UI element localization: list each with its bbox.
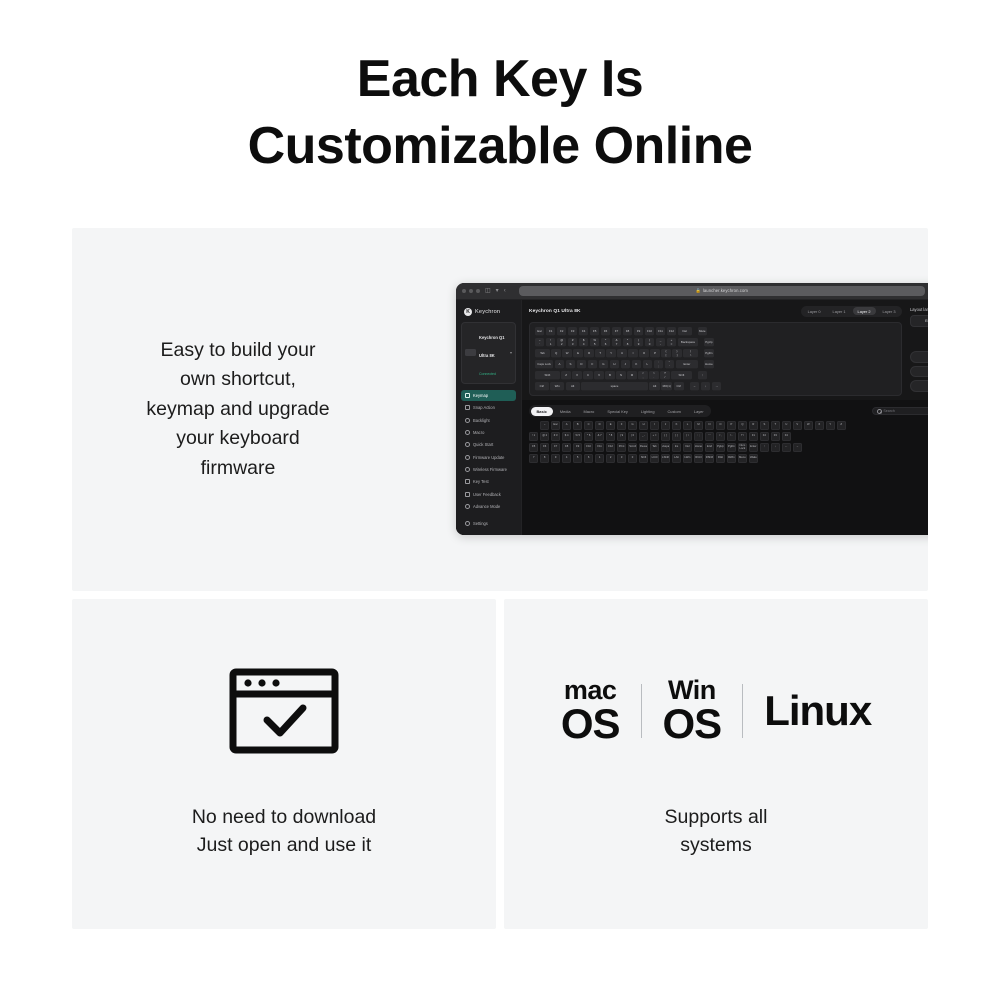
key-picker-key[interactable]: F1 xyxy=(749,432,758,441)
search-placeholder: Search xyxy=(883,409,894,413)
tab-media[interactable]: Media xyxy=(554,407,577,416)
lock-icon: 🔒 xyxy=(695,288,700,294)
key-picker-key[interactable]: S xyxy=(760,421,769,430)
keyboard-key-spacer xyxy=(693,371,696,380)
key-picker-key[interactable]: RCtrl xyxy=(694,454,703,463)
key-picker-key[interactable]: Print xyxy=(617,443,626,452)
quick-start-icon xyxy=(465,442,470,447)
keyboard-key[interactable]: F5 xyxy=(590,327,599,336)
key-picker-toolbar: Basic Media Macro Special Key Lighting C… xyxy=(529,405,928,417)
key-picker-key[interactable]: LShift xyxy=(661,454,670,463)
tab-special-key[interactable]: Special Key xyxy=(601,407,634,416)
close-icon[interactable] xyxy=(462,289,466,293)
key-picker-key[interactable]: ~ xyxy=(540,421,549,430)
sidebar-item-label: Quick Start xyxy=(473,442,493,447)
keyboard-key[interactable]: Z xyxy=(561,371,570,380)
chevron-left-icon[interactable]: ‹ xyxy=(504,288,506,294)
keyboard-key[interactable]: Enter xyxy=(676,360,699,369)
keyboard-key[interactable]: V xyxy=(594,371,603,380)
key-picker-key[interactable]: 4 xyxy=(562,454,571,463)
keyboard-key-legend: 7 xyxy=(616,343,618,346)
sidebar-item-key-test[interactable]: Key Test xyxy=(461,476,516,487)
keyboard-key[interactable]: J xyxy=(621,360,630,369)
keyboard-key-legend: 0 xyxy=(649,343,651,346)
key-picker-key[interactable]: Y xyxy=(826,421,835,430)
key-picker-key[interactable]: _ - xyxy=(639,432,648,441)
sidebar-item-user-feedback[interactable]: User Feedback xyxy=(461,489,516,500)
key-picker-empty xyxy=(760,454,769,463)
keyboard-key[interactable]: !1 xyxy=(546,338,555,347)
device-status: Connected xyxy=(479,372,496,376)
keyboard-key[interactable]: ← xyxy=(690,382,699,391)
key-picker-key[interactable]: B xyxy=(573,421,582,430)
sidebar-item-label: Firmware Update xyxy=(473,455,504,460)
window-controls[interactable] xyxy=(462,289,480,293)
address-bar-url: launcher.keychron.com xyxy=(703,288,748,293)
key-picker-key[interactable]: } ] xyxy=(672,432,681,441)
device-name: Keychron Q1 Ultra 8K xyxy=(479,335,504,358)
key-picker-key[interactable]: F11 xyxy=(595,443,604,452)
key-picker-key[interactable]: 5 xyxy=(573,454,582,463)
tab-basic[interactable]: Basic xyxy=(531,407,553,416)
key-picker-key[interactable]: F xyxy=(617,421,626,430)
key-picker-key[interactable]: H xyxy=(639,421,648,430)
key-picker-row: ! 1@ 2# 3$ 4% 5^ 6& 7* 8( 9) 0_ -+ ={ [}… xyxy=(529,432,928,441)
key-picker-key[interactable]: T xyxy=(771,421,780,430)
reset-button[interactable]: ↻ Reset xyxy=(910,351,928,363)
keymap-icon xyxy=(465,393,470,398)
keyboard-key[interactable]: PgUp xyxy=(704,338,713,347)
keyboard-key[interactable]: W xyxy=(562,349,571,358)
os-logo-winos: Win OS xyxy=(663,678,722,744)
key-picker-key[interactable]: Enter xyxy=(749,443,758,452)
key-picker-key[interactable]: 8 xyxy=(540,454,549,463)
key-picker-key[interactable]: Tab xyxy=(650,443,659,452)
key-picker-key[interactable]: & 7 xyxy=(595,432,604,441)
key-picker-key[interactable]: 3 xyxy=(617,454,626,463)
keyboard-key[interactable]: ↓ xyxy=(701,382,710,391)
sidebar-item-label: Keymap xyxy=(473,393,488,398)
tab-lighting[interactable]: Lighting xyxy=(635,407,661,416)
browser-window-check-icon xyxy=(229,668,339,754)
feature-text-line-2: own shortcut, xyxy=(104,365,372,395)
key-picker-key[interactable]: U xyxy=(782,421,791,430)
key-picker-key[interactable]: F8 xyxy=(562,443,571,452)
keyboard-key[interactable]: S xyxy=(566,360,575,369)
key-picker-key[interactable]: L xyxy=(683,421,692,430)
keyboard-key-legend: 2 xyxy=(561,343,563,346)
key-picker-key[interactable]: PgUp xyxy=(716,443,725,452)
key-picker-key[interactable]: : ; xyxy=(694,432,703,441)
keyboard-key-spacer xyxy=(700,338,703,347)
search-input[interactable]: Search xyxy=(872,407,928,415)
key-picker-key[interactable]: F6 xyxy=(540,443,549,452)
key-picker-key[interactable]: { [ xyxy=(661,432,670,441)
keyboard-key[interactable]: :; xyxy=(654,360,663,369)
keyboard-key[interactable]: F1 xyxy=(546,327,555,336)
key-picker-tools: Search 100% xyxy=(872,407,928,415)
key-picker-key[interactable]: # 3 xyxy=(551,432,560,441)
backlight-icon xyxy=(465,418,470,423)
card-no-download-caption: No need to download Just open and use it xyxy=(192,803,376,860)
sidebar-item-label: Snap Action xyxy=(473,405,495,410)
keyboard-key[interactable]: T xyxy=(595,349,604,358)
key-picker-key[interactable]: A xyxy=(562,421,571,430)
keymap-title: Keychron Q1 Ultra 8K xyxy=(529,309,581,314)
address-bar[interactable]: 🔒 launcher.keychron.com xyxy=(519,286,925,296)
search-icon xyxy=(877,409,881,413)
keymap-section: Keychron Q1 Ultra 8K Layer 0 Layer 1 Lay… xyxy=(522,300,928,401)
keyboard-key[interactable]: D xyxy=(577,360,586,369)
keyboard-key[interactable]: ~` xyxy=(535,338,544,347)
key-picker-key[interactable]: " ' xyxy=(705,432,714,441)
keyboard-key[interactable]: Caps Lock xyxy=(535,360,553,369)
os-logos-zone: mac OS Win OS Linux xyxy=(561,661,871,761)
sidebar-item-label: Advance Mode xyxy=(473,504,500,509)
keyboard-key[interactable]: {[ xyxy=(661,349,670,358)
keyboard-key[interactable]: F10 xyxy=(645,327,654,336)
keyboard-key-spacer xyxy=(700,360,703,369)
key-picker-key[interactable]: % 5 xyxy=(573,432,582,441)
key-picker-key[interactable]: E xyxy=(606,421,615,430)
key-picker-key[interactable]: W xyxy=(804,421,813,430)
sidebar-item-label: User Feedback xyxy=(473,492,501,497)
key-picker-key[interactable]: F12 xyxy=(606,443,615,452)
feature-text-line-1: Easy to build your xyxy=(104,336,372,366)
key-picker-key[interactable]: < , xyxy=(716,432,725,441)
keyboard-key-legend: . xyxy=(654,376,655,379)
keyboard-key[interactable]: }] xyxy=(672,349,681,358)
app-sidebar: K Keychron Keychron Q1 Ultra 8K Connecte… xyxy=(456,300,522,535)
key-picker-key[interactable]: P xyxy=(727,421,736,430)
keyboard-key-legend: ' xyxy=(669,365,670,368)
key-picker-key[interactable]: Pause xyxy=(639,443,648,452)
key-picker-key[interactable]: Home xyxy=(694,443,703,452)
keyboard-key[interactable]: Ctrl xyxy=(535,382,549,391)
keyboard-key-legend: 6 xyxy=(605,343,607,346)
key-picker-key[interactable]: F9 xyxy=(573,443,582,452)
launcher-app: K Keychron Keychron Q1 Ultra 8K Connecte… xyxy=(456,300,928,535)
key-picker-key[interactable]: 6 xyxy=(584,454,593,463)
gear-icon xyxy=(465,521,470,526)
key-picker-empty xyxy=(782,454,791,463)
sidebar-item-backlight[interactable]: Backlight xyxy=(461,414,516,425)
key-picker-key[interactable]: ↑ xyxy=(760,443,769,452)
keyboard-key-spacer xyxy=(693,327,696,336)
sidebar-item-wireless-firmware[interactable]: Wireless Firmware xyxy=(461,464,516,475)
chevron-down-icon[interactable]: ▾ xyxy=(496,288,499,294)
keyboard-key[interactable]: Tab xyxy=(535,349,550,358)
keyboard-key[interactable]: Shift xyxy=(535,371,560,380)
key-picker-key[interactable]: Del xyxy=(683,443,692,452)
key-test-icon xyxy=(465,479,470,484)
keyboard-key[interactable]: Esc xyxy=(535,327,544,336)
key-picker-key[interactable]: LCtrl xyxy=(650,454,659,463)
feature-card-text: Easy to build your own shortcut, keymap … xyxy=(72,336,372,484)
chevron-down-icon[interactable]: ▾ xyxy=(510,350,512,355)
import-button[interactable]: ⇧ Import xyxy=(910,380,928,392)
key-picker-key[interactable]: RShift xyxy=(705,454,714,463)
layer-tab-3[interactable]: Layer 3 xyxy=(878,307,901,315)
key-picker-key[interactable]: ( 9 xyxy=(617,432,626,441)
keyboard-key[interactable]: Alt xyxy=(566,382,580,391)
browser-window: ◫ ▾ ‹ 🔒 launcher.keychron.com ⇧ + ▣ xyxy=(456,283,928,535)
key-picker-row: F5F6F7F8F9F10F11F12PrintScrollPauseTabBa… xyxy=(529,443,928,452)
page-title: Each Key Is Customizable Online xyxy=(0,0,1000,179)
brand-logo: K Keychron xyxy=(461,307,516,322)
sidebar-item-label: Wireless Firmware xyxy=(473,467,507,472)
key-picker-key[interactable]: ↓ xyxy=(771,443,780,452)
keyboard-key[interactable]: K xyxy=(632,360,641,369)
keyboard-key[interactable]: _- xyxy=(656,338,665,347)
key-picker-key[interactable]: LWin xyxy=(683,454,692,463)
key-picker-key[interactable]: Ins xyxy=(672,443,681,452)
keyboard-key[interactable]: B xyxy=(605,371,614,380)
sidebar-item-settings[interactable]: Settings xyxy=(461,518,516,529)
layout-language-label: Layout language xyxy=(910,307,928,312)
key-picker-key[interactable]: F5 xyxy=(529,443,538,452)
keyboard-key[interactable]: Del xyxy=(678,327,692,336)
layer-tab-0[interactable]: Layer 0 xyxy=(803,307,826,315)
key-picker-key[interactable]: V xyxy=(793,421,802,430)
key-picker-key[interactable]: Shift xyxy=(639,454,648,463)
key-picker-key[interactable]: R xyxy=(749,421,758,430)
keyboard-key[interactable]: O xyxy=(639,349,648,358)
key-picker-key[interactable]: ^ 6 xyxy=(584,432,593,441)
key-picker-key[interactable]: 0 xyxy=(628,454,637,463)
sidebar-item-macro[interactable]: Macro xyxy=(461,427,516,438)
key-picker-key[interactable]: + = xyxy=(650,432,659,441)
sidebar-item-advance-mode[interactable]: Advance Mode xyxy=(461,501,516,512)
minimize-icon[interactable] xyxy=(469,289,473,293)
key-picker-key[interactable]: X xyxy=(815,421,824,430)
cards-container: Easy to build your own shortcut, keymap … xyxy=(0,228,1000,929)
keyboard-key[interactable]: F xyxy=(588,360,597,369)
keyboard-key[interactable]: Backspace xyxy=(678,338,698,347)
key-picker-key[interactable]: ← xyxy=(782,443,791,452)
caption-line-2: systems xyxy=(665,831,768,859)
keymap-header: Keychron Q1 Ultra 8K Layer 0 Layer 1 Lay… xyxy=(529,306,902,317)
tab-macro[interactable]: Macro xyxy=(578,407,601,416)
keyboard-key[interactable]: >. xyxy=(649,371,658,380)
keyboard-layout[interactable]: EscF1F2F3F4F5F6F7F8F9F10F11F12DelMute~`!… xyxy=(529,322,902,396)
key-picker-key[interactable]: D xyxy=(595,421,604,430)
key-picker-key[interactable]: J xyxy=(661,421,670,430)
key-picker-key[interactable]: Z xyxy=(837,421,846,430)
firmware-update-icon xyxy=(465,455,470,460)
keyboard-key[interactable]: Mute xyxy=(698,327,707,336)
caption-line-1: No need to download xyxy=(192,803,376,831)
key-picker-key[interactable]: Wake xyxy=(749,454,758,463)
key-picker-key[interactable]: Esc xyxy=(551,421,560,430)
key-picker-key[interactable]: ? / xyxy=(738,432,747,441)
tab-custom[interactable]: Custom xyxy=(662,407,687,416)
keyboard-key[interactable]: Home xyxy=(704,360,713,369)
keyboard-key[interactable]: E xyxy=(573,349,582,358)
keyboard-key[interactable]: F8 xyxy=(623,327,632,336)
keyboard-key[interactable]: F9 xyxy=(634,327,643,336)
key-picker-key[interactable]: ! 1 xyxy=(529,432,538,441)
key-picker-key[interactable]: 7 xyxy=(529,454,538,463)
keyboard-key[interactable]: I xyxy=(628,349,637,358)
sidebar-item-quick-start[interactable]: Quick Start xyxy=(461,439,516,450)
keyboard-key[interactable]: L xyxy=(643,360,652,369)
key-picker-key[interactable]: I xyxy=(650,421,659,430)
key-picker-key[interactable]: End xyxy=(705,443,714,452)
sidebar-item-snap-action[interactable]: Snap Action xyxy=(461,402,516,413)
layer-tab-1[interactable]: Layer 1 xyxy=(828,307,851,315)
keyboard-key[interactable]: → xyxy=(712,382,721,391)
key-picker-key[interactable]: Q xyxy=(738,421,747,430)
sidebar-icon[interactable]: ◫ xyxy=(485,288,491,294)
feature-text-line-5: firmware xyxy=(104,454,372,484)
keyboard-key[interactable]: |\ xyxy=(683,349,698,358)
keyboard-key[interactable]: F11 xyxy=(656,327,665,336)
keyboard-key[interactable]: "' xyxy=(665,360,674,369)
key-picker-key[interactable]: Num Lock xyxy=(738,443,747,452)
key-picker-key[interactable]: Scroll xyxy=(628,443,637,452)
divider xyxy=(641,684,642,738)
key-picker-key[interactable]: 9 xyxy=(551,454,560,463)
keyboard-key[interactable]: H xyxy=(610,360,619,369)
rail-spacer xyxy=(910,327,928,351)
divider xyxy=(742,684,743,738)
os-linux-label: Linux xyxy=(764,691,871,731)
key-picker-key[interactable]: F3 xyxy=(771,432,780,441)
tab-layer[interactable]: Layer xyxy=(688,407,710,416)
feature-text-line-4: your keyboard xyxy=(104,424,372,454)
key-picker-key[interactable]: RAlt xyxy=(716,454,725,463)
key-picker-grid[interactable]: ~EscABCDEFGHIJKLMNOPQRSTUVWXYZ! 1@ 2# 3$… xyxy=(529,421,928,463)
keyboard-key-legend: 1 xyxy=(550,343,552,346)
card-no-download: No need to download Just open and use it xyxy=(72,599,496,929)
keyboard-key[interactable]: += xyxy=(667,338,676,347)
feature-card-online-customization: Easy to build your own shortcut, keymap … xyxy=(72,228,928,591)
keyboard-key[interactable]: Q xyxy=(551,349,560,358)
keyboard-key[interactable]: (9 xyxy=(634,338,643,347)
caption-line-1: Supports all xyxy=(665,803,768,831)
keyboard-key[interactable]: C xyxy=(583,371,592,380)
key-picker-key[interactable]: Menu xyxy=(738,454,747,463)
key-picker-key[interactable]: O xyxy=(716,421,725,430)
key-picker-key[interactable]: Backspace xyxy=(661,443,670,452)
keyboard-key[interactable]: Y xyxy=(606,349,615,358)
keyboard-key[interactable]: P xyxy=(650,349,659,358)
keyboard-key[interactable]: F2 xyxy=(557,327,566,336)
keyboard-key[interactable]: A xyxy=(555,360,564,369)
layer-tab-2[interactable]: Layer 2 xyxy=(853,307,876,315)
card-supports-all-systems: mac OS Win OS Linux Supports all sys xyxy=(504,599,928,929)
key-picker-key[interactable]: F4 xyxy=(782,432,791,441)
keyboard-key[interactable]: ^6 xyxy=(601,338,610,347)
snap-action-icon xyxy=(465,405,470,410)
macro-icon xyxy=(465,430,470,435)
keyboard-key-legend: \ xyxy=(690,354,691,357)
keyboard-key[interactable]: <, xyxy=(638,371,647,380)
keyboard-key[interactable]: M xyxy=(627,371,636,380)
keyboard-key-spacer xyxy=(686,382,689,391)
key-picker-key[interactable]: PgDn xyxy=(727,443,736,452)
key-picker-row: 7894561230ShiftLCtrlLShiftLAltLWinRCtrlR… xyxy=(529,454,928,463)
maximize-icon[interactable] xyxy=(476,289,480,293)
keyboard-key[interactable]: MO(1) xyxy=(661,382,672,391)
layout-language-select[interactable]: English (US) xyxy=(910,315,928,327)
sidebar-item-firmware-update[interactable]: Firmware Update xyxy=(461,451,516,462)
keyboard-key[interactable]: F6 xyxy=(601,327,610,336)
key-picker-key[interactable]: ) 0 xyxy=(628,432,637,441)
keyboard-key-legend: 4 xyxy=(583,343,585,346)
keyboard-key[interactable]: X xyxy=(572,371,581,380)
key-picker-key[interactable]: | \ xyxy=(683,432,692,441)
keyboard-key[interactable]: G xyxy=(599,360,608,369)
key-picker-tabs[interactable]: Basic Media Macro Special Key Lighting C… xyxy=(529,405,711,417)
keyboard-key[interactable]: F3 xyxy=(568,327,577,336)
keyboard-key[interactable]: &7 xyxy=(612,338,621,347)
keyboard-key-legend: , xyxy=(643,376,644,379)
keyboard-key[interactable]: R xyxy=(584,349,593,358)
keyboard-key[interactable]: N xyxy=(616,371,625,380)
key-picker-key[interactable]: RWin xyxy=(727,454,736,463)
keyboard-key[interactable]: F7 xyxy=(612,327,621,336)
keyboard-key[interactable]: U xyxy=(617,349,626,358)
key-picker-key[interactable]: M xyxy=(694,421,703,430)
keyboard-key[interactable]: F4 xyxy=(579,327,588,336)
keyboard-key-legend: 8 xyxy=(627,343,629,346)
app-main: Keychron Q1 Ultra 8K Layer 0 Layer 1 Lay… xyxy=(522,300,928,535)
keyboard-key[interactable]: )0 xyxy=(645,338,654,347)
keyboard-row: CtrlWinAltspaceAltMO(1)Ctrl←↓→ xyxy=(535,382,896,391)
keyboard-key[interactable]: @2 xyxy=(557,338,566,347)
right-rail: Layout language English (US) ↻ Reset ⇩ E… xyxy=(908,300,928,401)
key-picker-key[interactable]: LAlt xyxy=(672,454,681,463)
key-picker-key[interactable]: F2 xyxy=(760,432,769,441)
key-picker-key[interactable]: 1 xyxy=(595,454,604,463)
key-picker-key[interactable]: F7 xyxy=(551,443,560,452)
keyboard-key[interactable]: Alt xyxy=(649,382,660,391)
export-button[interactable]: ⇩ Export xyxy=(910,366,928,378)
key-picker-key[interactable]: K xyxy=(672,421,681,430)
keyboard-key[interactable]: %5 xyxy=(590,338,599,347)
wireless-firmware-icon xyxy=(465,467,470,472)
keyboard-key[interactable]: Shift xyxy=(671,371,691,380)
keyboard-key[interactable]: #3 xyxy=(568,338,577,347)
key-picker-key[interactable]: G xyxy=(628,421,637,430)
key-picker-key[interactable]: $ 4 xyxy=(562,432,571,441)
keyboard-key[interactable]: PgDn xyxy=(704,349,713,358)
key-picker-key[interactable]: @ 2 xyxy=(540,432,549,441)
keyboard-key[interactable]: F12 xyxy=(667,327,676,336)
key-picker-key[interactable]: F10 xyxy=(584,443,593,452)
key-picker-key[interactable]: > . xyxy=(727,432,736,441)
keyboard-key[interactable]: Win xyxy=(550,382,564,391)
caption-line-2: Just open and use it xyxy=(192,831,376,859)
layer-tabs[interactable]: Layer 0 Layer 1 Layer 2 Layer 3 xyxy=(801,306,902,317)
keyboard-key[interactable]: *8 xyxy=(623,338,632,347)
keyboard-key[interactable]: ↑ xyxy=(698,371,707,380)
sidebar-item-keymap[interactable]: Keymap xyxy=(461,390,516,401)
os-logos: mac OS Win OS Linux xyxy=(561,678,871,744)
device-selector[interactable]: Keychron Q1 Ultra 8K Connected ▾ xyxy=(461,322,516,384)
keyboard-key[interactable]: $4 xyxy=(579,338,588,347)
key-picker-key[interactable]: → xyxy=(793,443,802,452)
key-picker-key[interactable]: * 8 xyxy=(606,432,615,441)
keyboard-key[interactable]: space xyxy=(581,382,648,391)
key-picker-key[interactable]: 2 xyxy=(606,454,615,463)
keyboard-key[interactable]: Ctrl xyxy=(674,382,685,391)
keyboard-key[interactable]: ?/ xyxy=(660,371,669,380)
key-picker-key[interactable]: N xyxy=(705,421,714,430)
key-picker-key[interactable]: C xyxy=(584,421,593,430)
